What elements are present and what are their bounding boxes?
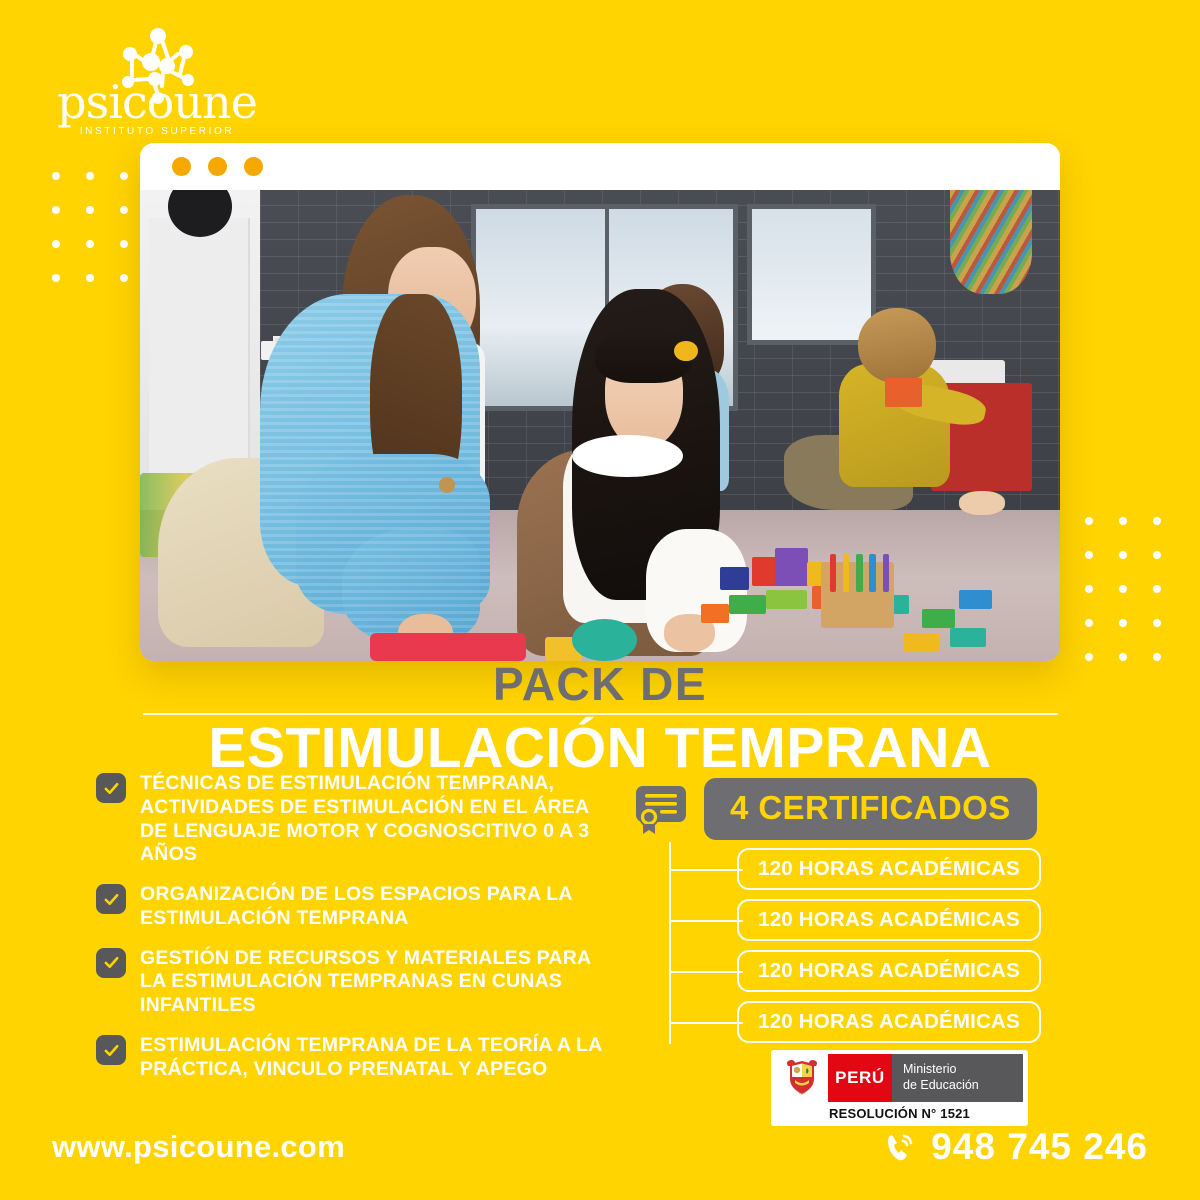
certificates-header: 4 CERTIFICADOS: [634, 778, 1037, 840]
phone-contact[interactable]: 948 745 246: [883, 1126, 1148, 1168]
list-item-label: ESTIMULACIÓN TEMPRANA DE LA TEORÍA A LA …: [140, 1034, 616, 1082]
phone-ringing-icon: [883, 1130, 917, 1164]
decorative-dot-grid-right: [1085, 517, 1161, 661]
list-item: 120 HORAS ACADÉMICAS: [737, 1001, 1041, 1043]
website-url[interactable]: www.psicoune.com: [52, 1129, 345, 1165]
peru-label: PERÚ: [835, 1068, 885, 1088]
brand-logo: psicoune INSTITUTO SUPERIOR: [52, 22, 262, 147]
list-item: GESTIÓN DE RECURSOS Y MATERIALES PARA LA…: [96, 947, 616, 1018]
ministry-line-1: Ministerio: [903, 1062, 979, 1078]
certificates-count-badge: 4 CERTIFICADOS: [704, 778, 1037, 840]
hero-photo: [140, 190, 1060, 661]
decorative-dot-grid-left: [52, 172, 128, 282]
list-item: TÉCNICAS DE ESTIMULACIÓN TEMPRANA, ACTIV…: [96, 772, 616, 867]
peg-toy: [821, 562, 895, 628]
list-item: 120 HORAS ACADÉMICAS: [737, 848, 1041, 890]
ministry-accreditation-badge: PERÚ Ministerio de Educación RESOLUCIÓN …: [771, 1050, 1028, 1126]
check-icon: [96, 773, 126, 803]
browser-window-card: [140, 143, 1060, 661]
certificates-count-label: 4 CERTIFICADOS: [730, 789, 1011, 826]
check-icon: [96, 884, 126, 914]
peru-coat-of-arms-icon: [776, 1054, 828, 1102]
hours-label: 120 HORAS ACADÉMICAS: [758, 857, 1020, 881]
hours-label: 120 HORAS ACADÉMICAS: [758, 908, 1020, 932]
logo-subtitle: INSTITUTO SUPERIOR: [52, 126, 262, 137]
list-item: ORGANIZACIÓN DE LOS ESPACIOS PARA LA EST…: [96, 883, 616, 931]
headline-pretitle: PACK DE: [0, 660, 1200, 708]
list-item-label: ORGANIZACIÓN DE LOS ESPACIOS PARA LA EST…: [140, 883, 616, 931]
certificate-diploma-icon: [634, 784, 690, 834]
hours-label: 120 HORAS ACADÉMICAS: [758, 1010, 1020, 1034]
peru-label-block: PERÚ: [828, 1054, 892, 1102]
check-icon: [96, 948, 126, 978]
ministry-line-2: de Educación: [903, 1078, 979, 1094]
headline-title: ESTIMULACIÓN TEMPRANA: [0, 719, 1200, 779]
list-item: 120 HORAS ACADÉMICAS: [737, 950, 1041, 992]
list-item: 120 HORAS ACADÉMICAS: [737, 899, 1041, 941]
logo-wordmark: psicoune: [52, 79, 262, 125]
headline-divider: [143, 713, 1058, 715]
list-item: ESTIMULACIÓN TEMPRANA DE LA TEORÍA A LA …: [96, 1034, 616, 1082]
window-dot-green-icon[interactable]: [244, 157, 263, 176]
hours-label: 120 HORAS ACADÉMICAS: [758, 959, 1020, 983]
academic-hours-list: 120 HORAS ACADÉMICAS 120 HORAS ACADÉMICA…: [737, 848, 1041, 1052]
check-icon: [96, 1035, 126, 1065]
course-topics-list: TÉCNICAS DE ESTIMULACIÓN TEMPRANA, ACTIV…: [96, 772, 616, 1098]
browser-titlebar: [140, 143, 1060, 190]
ministry-name-block: Ministerio de Educación: [892, 1054, 1023, 1102]
headline-block: PACK DE ESTIMULACIÓN TEMPRANA: [0, 660, 1200, 779]
resolution-number: RESOLUCIÓN N° 1521: [776, 1102, 1023, 1123]
list-item-label: GESTIÓN DE RECURSOS Y MATERIALES PARA LA…: [140, 947, 616, 1018]
window-dot-yellow-icon[interactable]: [208, 157, 227, 176]
window-dot-red-icon[interactable]: [172, 157, 191, 176]
list-item-label: TÉCNICAS DE ESTIMULACIÓN TEMPRANA, ACTIV…: [140, 772, 616, 867]
phone-number: 948 745 246: [931, 1126, 1148, 1168]
poster-canvas: psicoune INSTITUTO SUPERIOR: [0, 0, 1200, 1200]
